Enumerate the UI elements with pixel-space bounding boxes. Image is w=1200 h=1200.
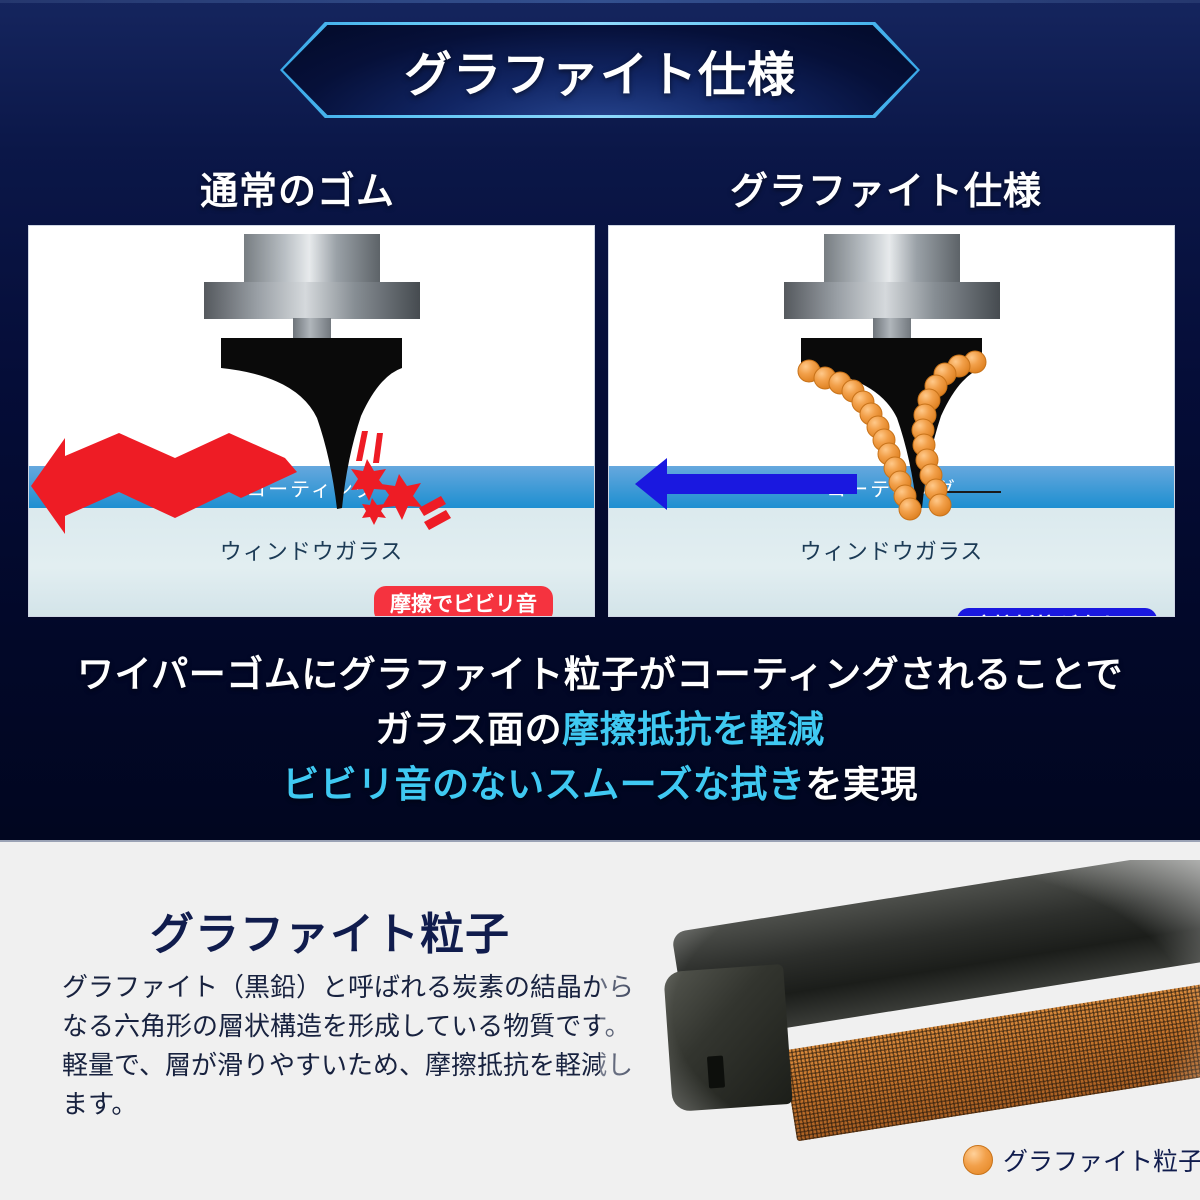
header-banner: グラファイト仕様 xyxy=(280,22,920,118)
left-coating-label: コーティング xyxy=(246,473,377,502)
detail-heading: グラファイト粒子 xyxy=(150,898,510,962)
summary-line-3-highlight: ビビリ音のないスムーズな拭き xyxy=(282,764,805,805)
right-wiper-holder-flange xyxy=(784,282,1000,319)
right-coating-band: コーティング xyxy=(609,466,1174,508)
right-wiper-holder-neck xyxy=(873,318,911,340)
summary-line-3-plain: を実現 xyxy=(805,764,918,805)
photo-legend: グラファイト粒子 xyxy=(963,1142,1200,1178)
legend-label: グラファイト粒子 xyxy=(1003,1142,1200,1178)
infographic-root: グラファイト仕様 通常のゴム グラファイト仕様 コーティング ウィンドウガラス xyxy=(0,0,1200,1200)
summary-line-2-plain: ガラス面の xyxy=(375,709,562,750)
section-divider xyxy=(0,840,1200,842)
left-diagram-card: コーティング ウィンドウガラス 摩擦でビビリ音 摩擦抵抗が大き xyxy=(28,225,595,617)
summary-line-2: ガラス面の摩擦抵抗を軽減 xyxy=(0,703,1200,758)
banner-inner: グラファイト仕様 xyxy=(283,25,917,115)
banner-title: グラファイト仕様 xyxy=(404,35,796,105)
left-glass-label: ウィンドウガラス xyxy=(220,534,404,566)
summary-line-2-highlight: 摩擦抵抗を軽減 xyxy=(562,709,825,750)
legend-graphite-dot-icon xyxy=(963,1145,993,1175)
left-coating-band: コーティング xyxy=(29,466,594,508)
right-glass-band: ウィンドウガラス xyxy=(609,508,1174,616)
summary-text-block: ワイパーゴムにグラファイト粒子がコーティングされることで ガラス面の摩擦抵抗を軽… xyxy=(0,648,1200,812)
right-diagram-card: コーティング ウィンドウガラス xyxy=(608,225,1175,617)
summary-line-1: ワイパーゴムにグラファイト粒子がコーティングされることで xyxy=(0,648,1200,703)
right-low-friction-badge: 摩擦抵抗が少ない xyxy=(957,608,1157,617)
right-coating-label: コーティング xyxy=(826,473,957,502)
right-panel-heading: グラファイト仕様 xyxy=(730,160,1042,215)
detail-body-text: グラファイト（黒鉛）と呼ばれる炭素の結晶からなる六角形の層状構造を形成している物… xyxy=(62,968,634,1124)
top-hairline xyxy=(0,0,1200,3)
right-glass-label: ウィンドウガラス xyxy=(800,534,984,566)
left-wiper-holder-flange xyxy=(204,282,420,319)
left-panel-heading: 通常のゴム xyxy=(200,160,395,215)
summary-line-3: ビビリ音のないスムーズな拭きを実現 xyxy=(0,758,1200,813)
left-wiper-holder-neck xyxy=(293,318,331,340)
left-noise-badge: 摩擦でビビリ音 xyxy=(374,586,553,617)
